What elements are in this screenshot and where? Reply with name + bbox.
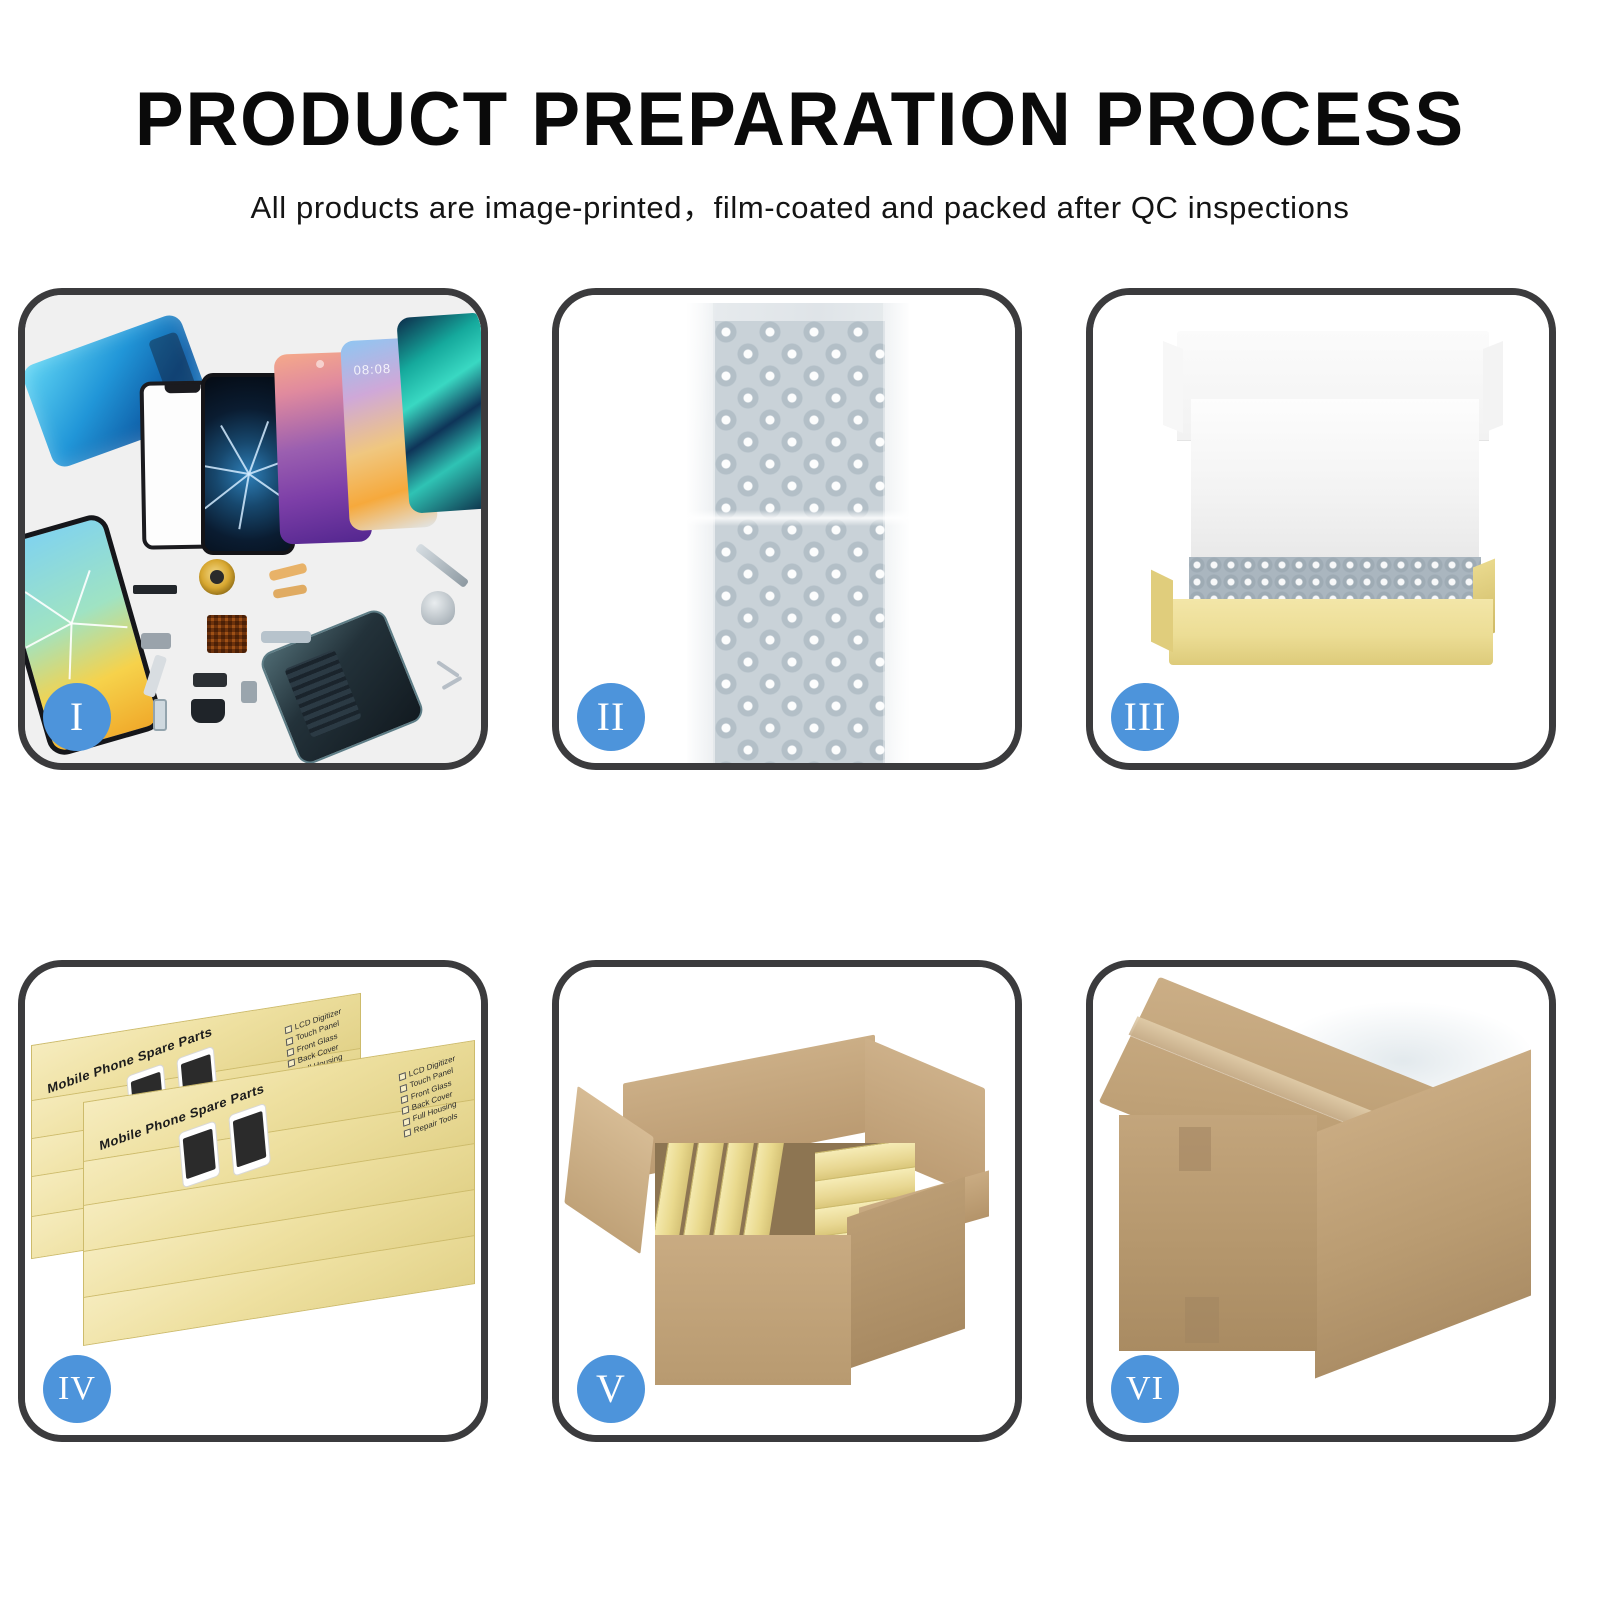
screen-thumbnail (229, 1102, 272, 1176)
cleaning-brush-part (421, 591, 455, 625)
page-title: PRODUCT PREPARATION PROCESS (32, 82, 1568, 158)
pouch-highlight (687, 510, 909, 526)
process-step-grid: 08:08 (18, 288, 1582, 1440)
step-badge-2: II (577, 683, 645, 751)
taptic-engine-part (191, 699, 225, 723)
step-badge-3: III (1111, 683, 1179, 751)
flex-cable-part-2 (272, 584, 307, 599)
sim-tray-part (153, 699, 167, 731)
camera-module-part (141, 633, 171, 649)
step-badge-4: IV (43, 1355, 111, 1423)
inner-box-interior (1191, 399, 1479, 557)
step-badge-6: VI (1111, 1355, 1179, 1423)
process-step-panel-4: Mobile Phone Spare Parts LCD Digitizer T… (18, 960, 488, 1442)
screw-part-1 (436, 660, 460, 678)
screen-thumbnail (178, 1120, 220, 1188)
product-preparation-infographic: PRODUCT PREPARATION PROCESS All products… (0, 0, 1600, 1600)
carton-front-face (655, 1235, 851, 1385)
process-step-panel-3: III (1086, 288, 1556, 770)
speaker-part (193, 673, 227, 687)
phone-logic-board (257, 606, 426, 763)
process-step-panel-5: V (552, 960, 1022, 1442)
flex-cable-part-4 (261, 631, 311, 643)
carton-seam-upper (1179, 1127, 1211, 1171)
bubble-wrap-pouch (687, 303, 909, 763)
repair-tool-part (415, 543, 469, 588)
antenna-strip-part (133, 585, 177, 594)
header: PRODUCT PREPARATION PROCESS All products… (0, 0, 1600, 227)
ic-chip-part (207, 615, 247, 653)
inner-box-front (1169, 599, 1493, 665)
step-badge-1: I (43, 683, 111, 751)
process-step-panel-1: 08:08 (18, 288, 488, 770)
wireless-charging-coil-part (199, 559, 235, 595)
bubble-pattern (715, 321, 885, 763)
screw-part-2 (441, 676, 462, 690)
flex-cable-part-1 (268, 563, 307, 582)
phone-display-teal (396, 312, 481, 514)
carton-seam-lower (1185, 1297, 1219, 1343)
pouch-left-edge (687, 303, 713, 763)
page-subtitle: All products are image-printed，film-coat… (0, 182, 1600, 227)
button-part (241, 681, 257, 703)
pouch-right-edge (883, 303, 909, 763)
process-step-panel-6: VI (1086, 960, 1556, 1442)
step-badge-5: V (577, 1355, 645, 1423)
process-step-panel-2: II (552, 288, 1022, 770)
